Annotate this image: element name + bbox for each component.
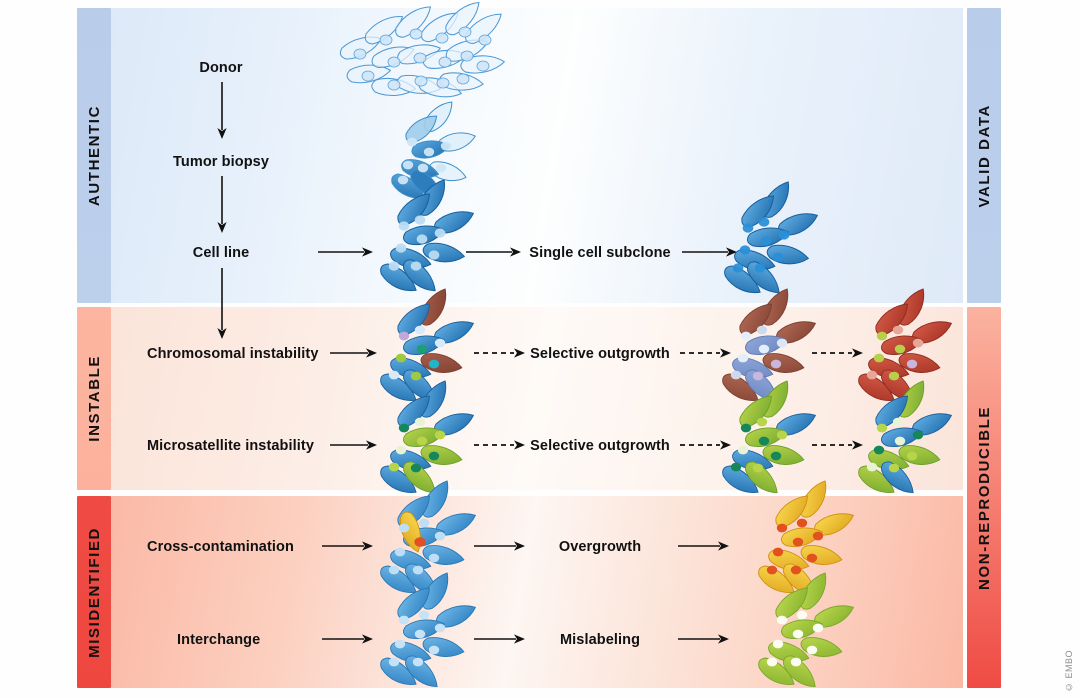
step-msi-selective-outgrowth: Selective outgrowth <box>530 438 670 454</box>
side-label-non-reproducible-text: NON-REPRODUCIBLE <box>976 406 993 590</box>
arrow-msi-to-cluster <box>330 438 378 452</box>
cell-cluster-subclone <box>718 208 804 290</box>
cell-cluster-tumor-biopsy <box>384 120 470 194</box>
step-chromosomal-instability: Chromosomal instability <box>147 346 319 362</box>
step-tumor-biopsy: Tumor biopsy <box>173 154 269 170</box>
arrow-cin-to-cluster <box>330 346 378 360</box>
side-label-valid-data: VALID DATA <box>967 8 1001 303</box>
arrow-cluster-to-overgrowth <box>474 539 526 553</box>
arrow-donor-to-biopsy <box>214 82 230 140</box>
panel-instable <box>111 307 963 490</box>
arrow-interchange-to-cluster <box>322 632 374 646</box>
step-cell-line: Cell line <box>193 245 250 261</box>
side-label-non-reproducible: NON-REPRODUCIBLE <box>967 307 1001 688</box>
arrow-cellline-to-cluster <box>318 245 374 259</box>
side-label-instable-text: INSTABLE <box>86 355 103 442</box>
side-label-misidentified: MISIDENTIFIED <box>77 496 111 688</box>
arrow-mislabeling-to-cluster <box>678 632 730 646</box>
cell-cluster-msi-mixed <box>374 410 460 488</box>
figure-canvas: AUTHENTIC INSTABLE MISIDENTIFIED VALID D… <box>0 0 1080 698</box>
arrow-cluster-to-mislabeling <box>474 632 526 646</box>
cell-cluster-msi-green <box>716 410 802 488</box>
cell-cluster-cin-mixed <box>374 318 460 396</box>
cell-cluster-cin-red <box>852 318 938 396</box>
arrow-dashed-msi-to-outgrowth <box>474 438 526 452</box>
side-label-authentic: AUTHENTIC <box>77 8 111 303</box>
step-cross-contamination: Cross-contamination <box>147 539 294 555</box>
step-single-cell-subclone: Single cell subclone <box>529 245 670 261</box>
cell-cluster-mislabeled-green <box>752 600 838 684</box>
arrow-cellline-to-instability <box>214 268 230 340</box>
arrow-biopsy-to-cellline <box>214 176 230 234</box>
cell-cluster-msi-blue-green <box>852 410 938 488</box>
arrow-overgrowth-to-cluster <box>678 539 730 553</box>
side-label-instable: INSTABLE <box>77 307 111 490</box>
step-microsatellite-instability: Microsatellite instability <box>147 438 314 454</box>
side-label-authentic-text: AUTHENTIC <box>86 105 103 206</box>
step-overgrowth: Overgrowth <box>559 539 641 555</box>
copyright-credit: © EMBO <box>1064 650 1074 692</box>
step-mislabeling: Mislabeling <box>560 632 640 648</box>
step-interchange: Interchange <box>177 632 260 648</box>
cell-cluster-donor-population <box>336 18 496 110</box>
arrow-crosscontam-to-cluster <box>322 539 374 553</box>
side-label-misidentified-text: MISIDENTIFIED <box>86 527 103 658</box>
step-cin-selective-outgrowth: Selective outgrowth <box>530 346 670 362</box>
cell-cluster-cell-line <box>374 206 460 288</box>
step-donor: Donor <box>199 60 242 76</box>
cell-cluster-interchange-blue <box>374 600 460 684</box>
side-label-valid-data-text: VALID DATA <box>976 104 993 208</box>
cell-cluster-cin-brown <box>716 318 802 396</box>
arrow-cluster-to-subclone <box>466 245 522 259</box>
arrow-dashed-cin-to-outgrowth <box>474 346 526 360</box>
